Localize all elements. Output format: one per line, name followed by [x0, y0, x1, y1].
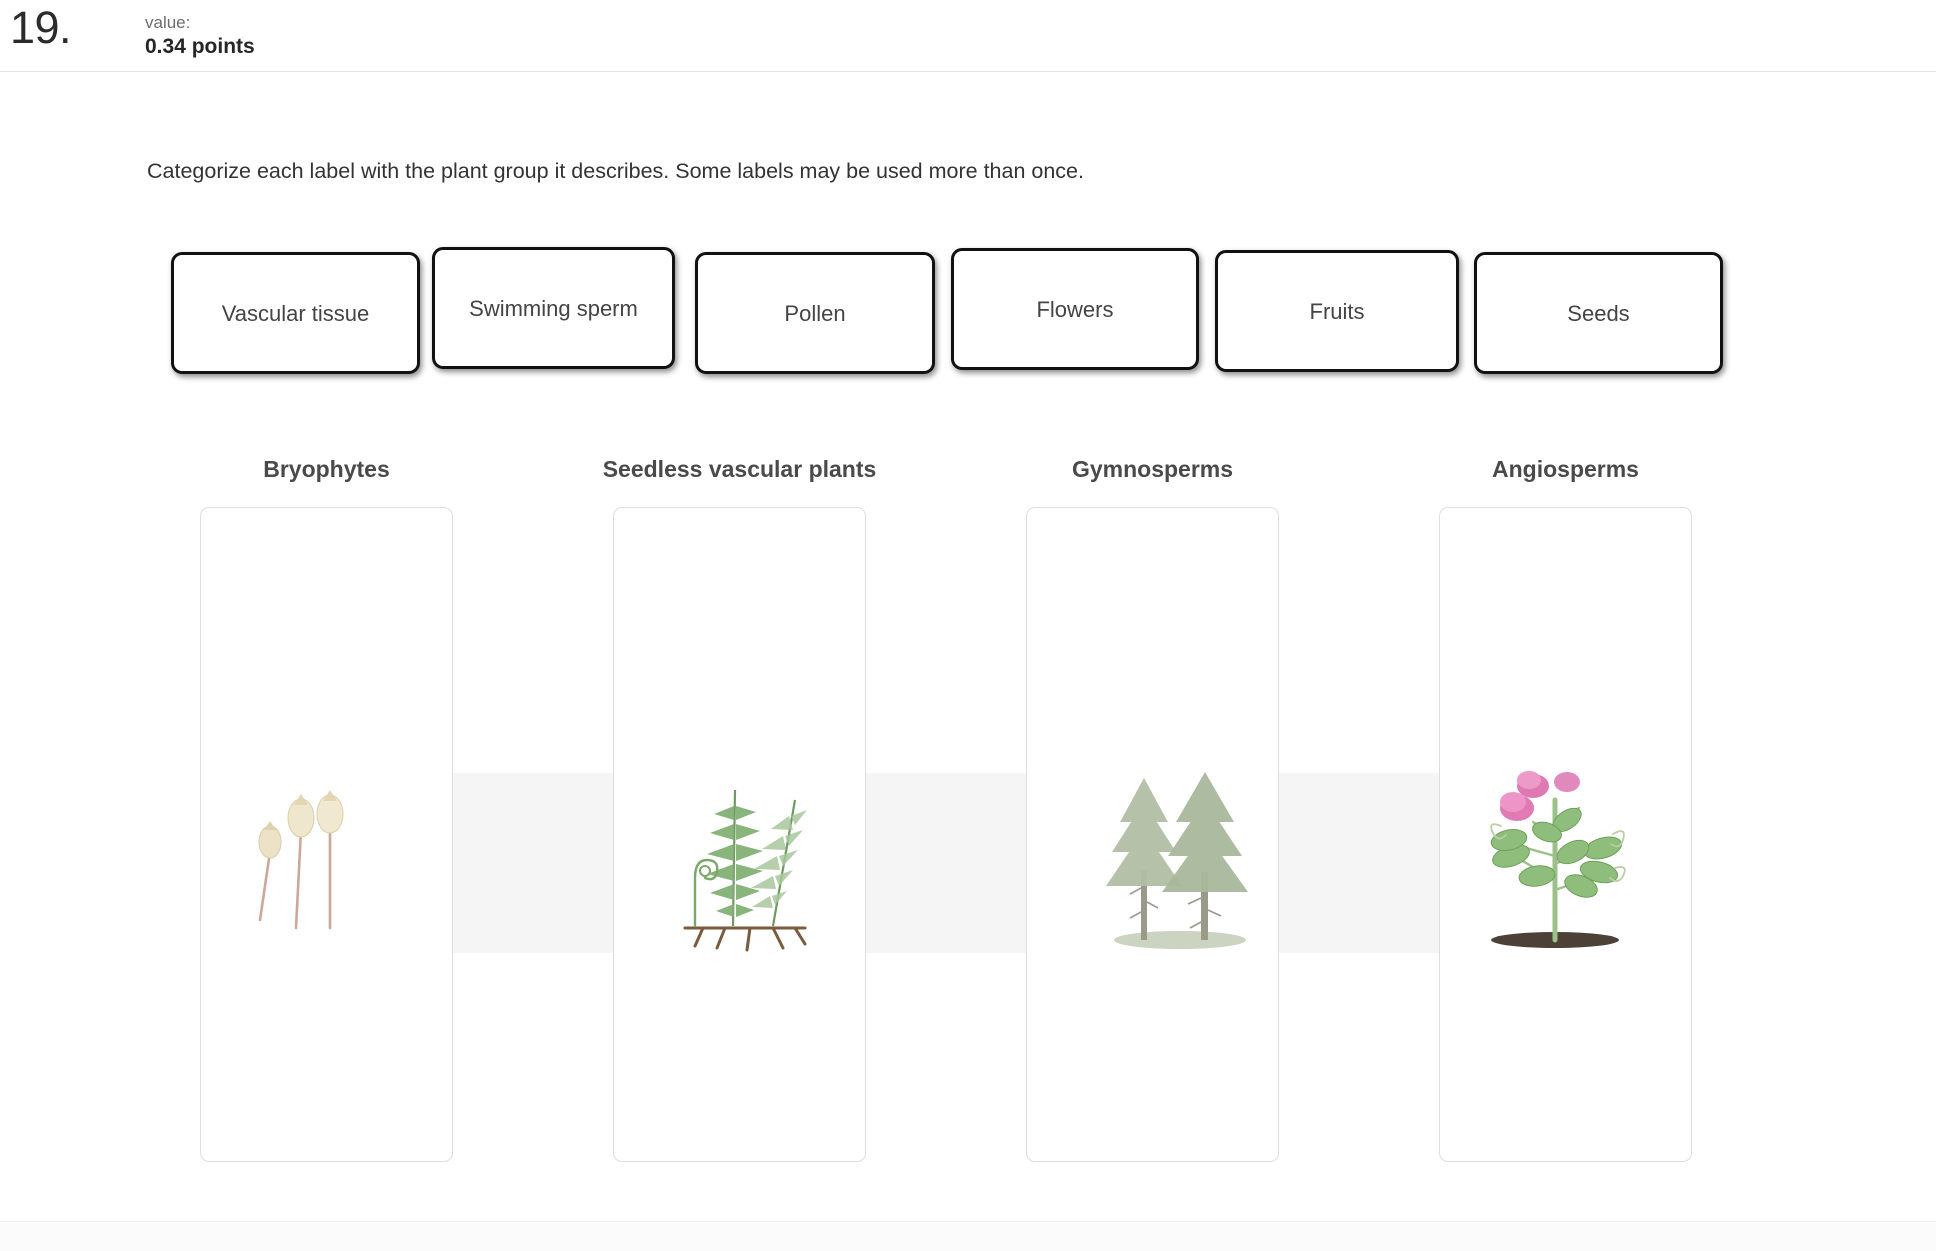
label-chip-fruits[interactable]: Fruits	[1215, 250, 1459, 372]
value-amount: 0.34 points	[145, 34, 255, 60]
question-prompt: Categorize each label with the plant gro…	[147, 157, 1084, 185]
category-title-angiosperms: Angiosperms	[1492, 455, 1639, 483]
moss-sporophytes-illustration	[208, 760, 408, 960]
question-number: 19.	[10, 2, 71, 54]
label-chip-swimming-sperm[interactable]: Swimming sperm	[432, 247, 675, 369]
label-chip-flowers[interactable]: Flowers	[951, 248, 1199, 370]
flowering-pea-plant-illustration	[1455, 760, 1655, 960]
question-value: value: 0.34 points	[145, 12, 255, 60]
category-title-bryophytes: Bryophytes	[263, 455, 390, 483]
conifer-trees-illustration	[1080, 760, 1280, 960]
category-title-seedless-vascular-plants: Seedless vascular plants	[603, 455, 877, 483]
question-header: 19. value: 0.34 points	[0, 0, 1936, 72]
label-bank: Vascular tissue Swimming sperm Pollen Fl…	[171, 245, 1723, 374]
fern-illustration	[655, 760, 855, 960]
label-chip-vascular-tissue[interactable]: Vascular tissue	[171, 252, 420, 374]
category-title-gymnosperms: Gymnosperms	[1072, 455, 1233, 483]
label-chip-pollen[interactable]: Pollen	[695, 252, 935, 374]
label-chip-seeds[interactable]: Seeds	[1474, 252, 1723, 374]
value-label: value:	[145, 12, 255, 33]
page-bottom-gutter	[0, 1221, 1936, 1251]
